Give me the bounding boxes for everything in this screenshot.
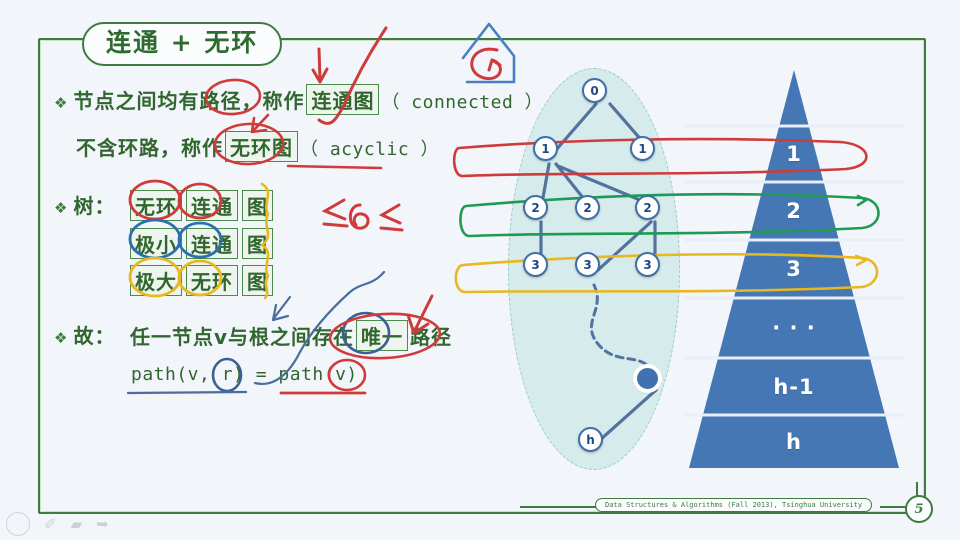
tree-def-row-2-tail: 图 xyxy=(242,265,273,296)
bullet-line-acyclic: 不含环路，称作无环图（ acyclic ） xyxy=(76,131,439,162)
formula-left: path(v, r) xyxy=(131,364,244,385)
tree-definition-label: ❖树： xyxy=(54,190,115,219)
line1-mid: ，称作 xyxy=(241,89,304,113)
line2-boxed-term: 无环图 xyxy=(225,131,298,162)
pyramid-level-2: 2 xyxy=(684,182,904,240)
tree-def-row-2: 极大无环图 xyxy=(128,265,275,296)
tree-node-3: 3 xyxy=(635,252,660,277)
tree-node-3: 3 xyxy=(523,252,548,277)
pen-tool-icon[interactable]: ✐ xyxy=(44,515,57,533)
conclusion-text: 任一节点v与根之间存在唯一路径 xyxy=(130,320,452,351)
pyramid-level-3: 3 xyxy=(684,240,904,298)
line1-boxed-term: 连通图 xyxy=(306,84,379,115)
pyramid-level-5: h-1 xyxy=(684,358,904,415)
tree-node-2: 2 xyxy=(635,195,660,220)
bullet-icon: ❖ xyxy=(54,94,67,112)
tree-node-0: 0 xyxy=(582,78,607,103)
tree-node-2: 2 xyxy=(523,195,548,220)
line1-pre: 节点之间均有 xyxy=(73,89,199,113)
tree-def-row-0-left: 无环 xyxy=(130,190,182,221)
tree-node-2: 2 xyxy=(575,195,600,220)
formula-right: path(v) xyxy=(278,364,357,385)
tree-label-text: 树： xyxy=(73,194,115,218)
bullet-icon: ❖ xyxy=(54,199,67,217)
logo-connector-rule xyxy=(880,506,906,508)
pyramid-level-1: 1 xyxy=(684,126,904,182)
tree-node-1: 1 xyxy=(533,136,558,161)
bullet-icon: ❖ xyxy=(54,329,67,347)
pyramid-level-6: h xyxy=(684,415,904,468)
tree-def-row-0-right: 连通 xyxy=(186,190,238,221)
conclusion-highlight: 唯一 xyxy=(356,320,408,351)
lasso-tool-icon[interactable] xyxy=(6,512,30,536)
conclusion-label: ❖故： xyxy=(54,320,115,349)
tree-def-row-0-tail: 图 xyxy=(242,190,273,221)
bullet-line-connected: ❖节点之间均有路径，称作连通图（ connected ） xyxy=(54,84,543,115)
footer-caption: Data Structures & Algorithms (Fall 2013)… xyxy=(595,498,872,512)
tree-node-filled xyxy=(635,366,660,391)
pyramid-level-0 xyxy=(684,70,904,126)
tree-node-1: 1 xyxy=(630,136,655,161)
footer-left-rule xyxy=(520,506,598,508)
tree-node-3: 3 xyxy=(575,252,600,277)
formula-line: path(v, r) = path(v) xyxy=(131,364,358,385)
slide-number-logo: 5 xyxy=(905,495,933,523)
conclusion-post: 路径 xyxy=(410,325,452,349)
pyramid-level-4: · · · xyxy=(684,298,904,358)
tree-def-row-1-tail: 图 xyxy=(242,228,273,259)
line2-pre: 不含环路，称作 xyxy=(76,136,223,160)
slide-canvas: 连通 + 无环 ❖节点之间均有路径，称作连通图（ connected ） 不含环… xyxy=(0,0,960,540)
line2-paren: （ acyclic ） xyxy=(300,139,439,160)
tree-def-row-1-right: 连通 xyxy=(186,228,238,259)
formula-eq: = xyxy=(256,364,267,385)
conclusion-pre: 任一节点v与根之间存在 xyxy=(130,325,354,349)
pyramid-diagram: 123· · ·h-1h xyxy=(684,70,904,470)
tree-node-h: h xyxy=(578,427,603,452)
tree-def-row-2-right: 无环 xyxy=(186,265,238,296)
pointer-tool-icon[interactable]: ➥ xyxy=(96,515,109,533)
line1-paren: （ connected ） xyxy=(381,92,543,113)
tree-def-row-0: 无环连通图 xyxy=(128,190,275,221)
tree-def-row-2-left: 极大 xyxy=(130,265,182,296)
tree-def-row-1-left: 极小 xyxy=(130,228,182,259)
annotation-toolbar[interactable]: ✐ ▰ ➥ xyxy=(6,512,109,536)
conclusion-label-text: 故： xyxy=(73,324,115,348)
page-title: 连通 + 无环 xyxy=(82,22,282,66)
line1-circled-word: 路径 xyxy=(199,89,241,113)
eraser-tool-icon[interactable]: ▰ xyxy=(71,515,83,533)
tree-def-row-1: 极小连通图 xyxy=(128,228,275,259)
